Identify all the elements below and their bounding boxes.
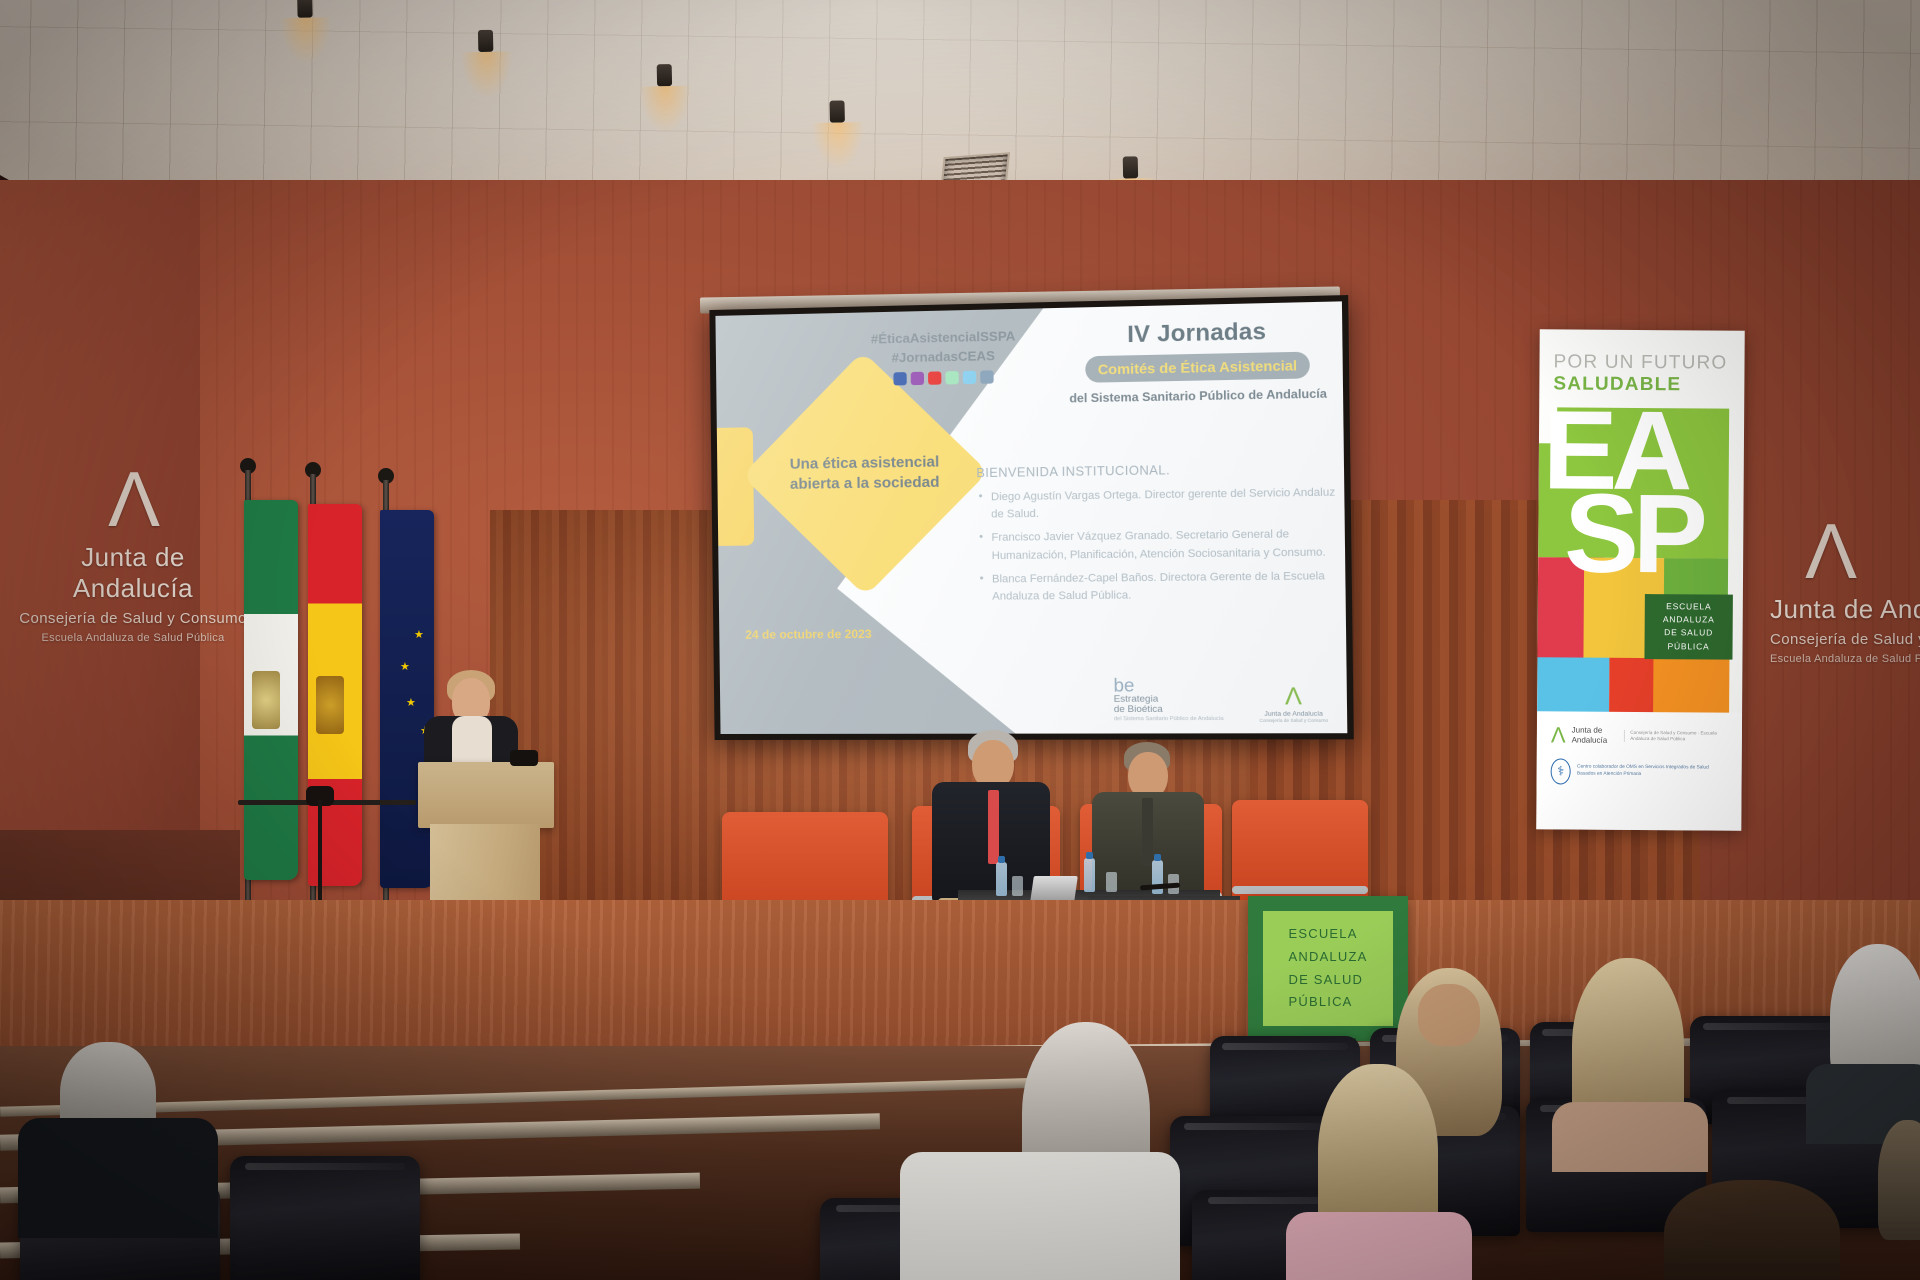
banner-footer: Λ Junta de Andalucía Consejería de Salud… xyxy=(1536,711,1742,830)
easp-lectern-sign-text: ESCUELA ANDALUZA DE SALUD PÚBLICA xyxy=(1289,923,1368,1014)
linkedin-icon xyxy=(980,370,994,383)
european-union-flag: ★ ★ ★ ★ xyxy=(380,510,434,888)
wall-logo-right-line2: Consejería de Salud y Cons xyxy=(1770,631,1920,648)
twitter-icon xyxy=(963,370,976,383)
logo-junta-andalucia-slide: Λ Junta de Andalucía Consejería de Salud… xyxy=(1259,686,1328,723)
junta-sub: Consejería de Salud y Consumo xyxy=(1259,718,1328,723)
projection-screen: Una ética asistencial abierta a la socie… xyxy=(709,295,1353,740)
slide-yellow-tab xyxy=(715,427,754,546)
wall-logo-line2: Consejería de Salud y Consumo xyxy=(18,610,248,627)
panelist-right-tie xyxy=(1142,798,1153,866)
audience-person-shoulders xyxy=(900,1152,1180,1280)
slide-title-main: IV Jornadas xyxy=(1051,316,1345,350)
slide-diamond-text: Una ética asistencial abierta a la socie… xyxy=(788,453,940,495)
audience-person-head xyxy=(1418,984,1480,1046)
list-item: Diego Agustín Vargas Ortega. Director ge… xyxy=(977,485,1343,525)
water-bottle xyxy=(996,862,1007,896)
easp-name-box: ESCUELA ANDALUZA DE SALUD PÚBLICA xyxy=(1644,594,1732,659)
banner-who-logo: ⚕ Centro colaborador de OMS en Servicios… xyxy=(1551,759,1728,786)
banner-color-blocks: EA SP ESCUELA ANDALUZA DE SALUD PÚBLICA xyxy=(1537,407,1744,708)
audience-person-shoulders xyxy=(1552,1102,1708,1172)
wall-logo-line1: Junta de Andalucía xyxy=(18,542,248,604)
easp-name-line2: ANDALUZA xyxy=(1649,613,1729,627)
easp-rollup-banner: POR UN FUTURO SALUDABLE EA SP ESCUELA AN… xyxy=(1536,329,1744,830)
laptop xyxy=(1030,876,1078,902)
slide-footer-logos: be Estrategia de Bioética del Sistema Sa… xyxy=(1113,675,1328,723)
junta-andalucia-mark-icon: Λ xyxy=(1551,726,1566,744)
wall-logo-junta-andalucia-left: Λ Junta de Andalucía Consejería de Salud… xyxy=(18,468,248,644)
audience-person-hair xyxy=(1878,1120,1920,1240)
banner-junta-text: Junta de Andalucía xyxy=(1572,726,1619,746)
easp-lectern-sign-inner: ESCUELA ANDALUZA DE SALUD PÚBLICA xyxy=(1260,908,1396,1029)
sign-line-4: PÚBLICA xyxy=(1289,994,1353,1009)
wall-logo-right-line3: Escuela Andaluza de Salud Púb xyxy=(1770,653,1920,665)
slide-date: 24 de octubre de 2023 xyxy=(745,627,871,642)
eu-star-icon: ★ xyxy=(414,628,424,641)
who-emblem-icon: ⚕ xyxy=(1551,759,1572,785)
slide-social-icons xyxy=(827,369,1062,387)
easp-name-line3: DE SALUD xyxy=(1649,626,1729,640)
andalucia-flag xyxy=(244,500,298,880)
youtube-icon xyxy=(928,371,941,384)
water-bottle xyxy=(1084,858,1095,892)
audience-person-shoulders xyxy=(1286,1212,1472,1280)
easp-name-line4: PÚBLICA xyxy=(1648,640,1728,654)
sign-line-2: ANDALUZA xyxy=(1289,949,1368,964)
banner-who-text: Centro colaborador de OMS en Servicios I… xyxy=(1577,765,1728,780)
easp-logo-letters: EA SP xyxy=(1537,407,1744,708)
slide-body: BIENVENIDA INSTITUCIONAL. Diego Agustín … xyxy=(976,458,1343,611)
banner-junta-sub: Consejería de Salud y Consumo · Escuela … xyxy=(1624,730,1728,743)
audience-person-hair xyxy=(1664,1180,1840,1280)
junta-andalucia-mark-icon: Λ xyxy=(1770,520,1890,582)
podium-top xyxy=(418,762,554,828)
whatsapp-icon xyxy=(945,371,958,384)
wall-logo-right-line1: Junta de Andaluc xyxy=(1770,594,1920,625)
easp-name-line1: ESCUELA xyxy=(1649,600,1729,614)
instagram-icon xyxy=(911,371,924,384)
bioetica-sub: del Sistema Sanitario Público de Andaluc… xyxy=(1114,716,1224,723)
slide-title-sub: del Sistema Sanitario Público de Andaluc… xyxy=(1051,386,1345,406)
slide-title-highlight: Comités de Ética Asistencial xyxy=(1085,352,1310,383)
ceiling-spotlight-icon xyxy=(297,0,312,18)
spain-coat-of-arms-icon xyxy=(316,676,344,734)
logo-estrategia-bioetica: be Estrategia de Bioética del Sistema Sa… xyxy=(1113,675,1223,723)
slide-title-block: IV Jornadas Comités de Ética Asistencial… xyxy=(1051,316,1346,406)
auditorium-scene: Λ Junta de Andalucía Consejería de Salud… xyxy=(0,0,1920,1280)
ceiling-spotlight-icon xyxy=(829,100,844,122)
junta-andalucia-mark-icon: Λ xyxy=(1259,686,1328,707)
spain-flag xyxy=(308,504,362,886)
easp-lectern-sign: ESCUELA ANDALUZA DE SALUD PÚBLICA xyxy=(1248,896,1408,1041)
eu-star-icon: ★ xyxy=(400,660,410,673)
eu-star-icon: ★ xyxy=(406,696,416,709)
bioetica-mark-icon: be xyxy=(1113,675,1223,694)
sign-line-3: DE SALUD xyxy=(1289,972,1364,987)
easp-letters-row2: SP xyxy=(1564,492,1744,576)
sign-line-1: ESCUELA xyxy=(1289,926,1358,941)
bioetica-line2: de Bioética xyxy=(1114,705,1224,716)
banner-junta-logo: Λ Junta de Andalucía Consejería de Salud… xyxy=(1551,725,1728,745)
andalucia-coat-of-arms-icon xyxy=(252,671,280,729)
ceiling-spotlight-icon xyxy=(657,64,672,86)
wall-logo-junta-andalucia-right: Λ Junta de Andaluc Consejería de Salud y… xyxy=(1770,520,1920,665)
junta-andalucia-mark-icon: Λ xyxy=(18,468,248,530)
ceiling-spotlight-icon xyxy=(478,30,493,52)
stage-chair xyxy=(1232,800,1368,900)
drinking-glass xyxy=(1106,872,1117,892)
wall-logo-line3: Escuela Andaluza de Salud Pública xyxy=(18,632,248,644)
facebook-icon xyxy=(893,372,906,385)
podium-microphone-icon xyxy=(510,750,538,766)
audience-person-shoulders xyxy=(18,1118,218,1238)
slide-section-heading: BIENVENIDA INSTITUCIONAL. xyxy=(976,458,1342,483)
slide-bullet-list: Diego Agustín Vargas Ortega. Director ge… xyxy=(977,485,1344,606)
ceiling-spotlight-icon xyxy=(1123,156,1138,178)
chair-armrest xyxy=(1232,886,1368,894)
audience-seat xyxy=(230,1156,420,1280)
panelist-left-tie xyxy=(988,790,999,864)
hashtag-2: #JornadasCEAS xyxy=(826,345,1061,369)
slide-hashtags: #ÉticaAsistencialSSPA #JornadasCEAS xyxy=(826,326,1062,386)
presentation-slide: Una ética asistencial abierta a la socie… xyxy=(715,301,1347,734)
list-item: Francisco Javier Vázquez Granado. Secret… xyxy=(977,526,1343,565)
list-item: Blanca Fernández-Capel Baños. Directora … xyxy=(978,567,1344,605)
drinking-glass xyxy=(1012,876,1023,896)
banner-tagline-line1: POR UN FUTURO xyxy=(1553,351,1730,374)
